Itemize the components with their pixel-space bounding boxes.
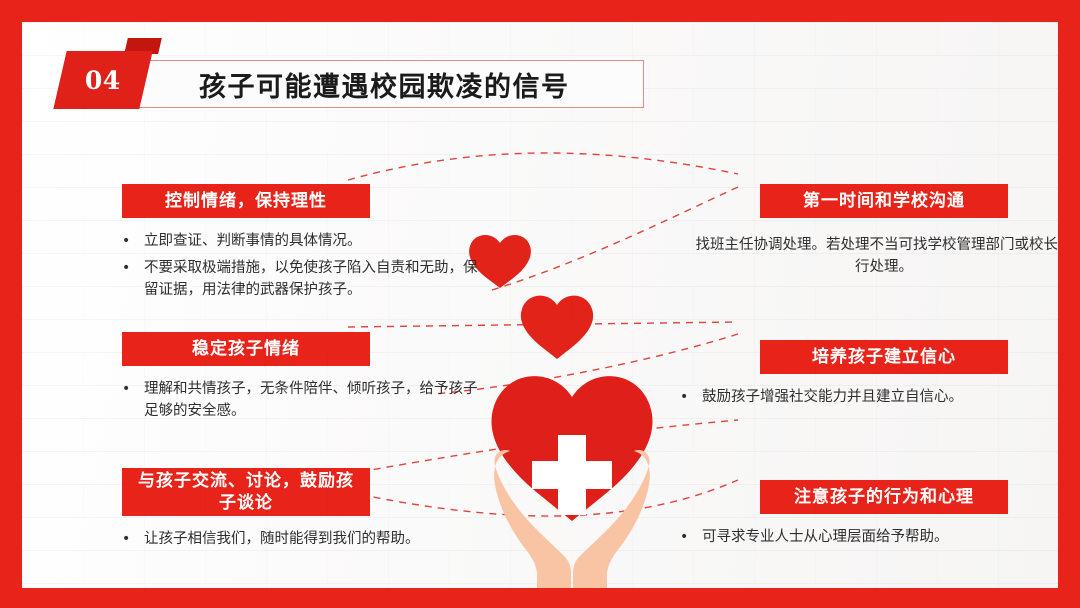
slide-root: 孩子可能遭遇校园欺凌的信号 04 控制情绪，保持理性 • 立即查证、判断事情的具…: [0, 0, 1080, 608]
block-tag-watch-behavior-psychology: 注意孩子的行为和心理: [760, 480, 1008, 514]
bullet-marker: •: [122, 231, 144, 253]
bullet-text: 理解和共情孩子，无条件陪伴、倾听孩子，给予孩子足够的安全感。: [144, 379, 482, 423]
bullet-list: • 可寻求专业人士从心理层面给予帮助。: [680, 527, 1058, 549]
bullet-list: • 让孩子相信我们，随时能得到我们的帮助。: [122, 529, 492, 551]
title-box: 孩子可能遭遇校园欺凌的信号: [132, 60, 644, 108]
block-tag-control-emotion: 控制情绪，保持理性: [122, 184, 370, 218]
section-number: 04: [85, 66, 121, 95]
bullet-list: • 鼓励孩子增强社交能力并且建立自信心。: [680, 387, 1058, 409]
block-watch-behavior-psychology[interactable]: 注意孩子的行为和心理 • 可寻求专业人士从心理层面给予帮助。: [760, 480, 1008, 514]
block-tag-communicate-with-child: 与孩子交流、讨论，鼓励孩子谈论: [122, 468, 370, 516]
block-communicate-with-child[interactable]: 与孩子交流、讨论，鼓励孩子谈论 • 让孩子相信我们，随时能得到我们的帮助。: [122, 468, 370, 516]
block-body-watch-behavior-psychology: • 可寻求专业人士从心理层面给予帮助。: [680, 522, 1058, 549]
bullet-text: 让孩子相信我们，随时能得到我们的帮助。: [144, 529, 492, 551]
list-item: • 鼓励孩子增强社交能力并且建立自信心。: [680, 387, 1058, 409]
list-item: • 让孩子相信我们，随时能得到我们的帮助。: [122, 529, 492, 551]
bullet-list: • 立即查证、判断事情的具体情况。 • 不要采取极端措施，以免使孩子陷入自责和无…: [122, 231, 482, 301]
bullet-text: 不要采取极端措施，以免使孩子陷入自责和无助，保留证据，用法律的武器保护孩子。: [144, 258, 482, 302]
bullet-text: 立即查证、判断事情的具体情况。: [144, 231, 482, 253]
block-body-communicate-with-child: • 让孩子相信我们，随时能得到我们的帮助。: [122, 524, 492, 551]
bullet-marker: •: [680, 527, 702, 549]
body-text: 找班主任协调处理。若处理不当可找学校管理部门或校长进行处理。: [690, 234, 1058, 279]
bullet-marker: •: [122, 258, 144, 302]
bullet-list: • 理解和共情孩子，无条件陪伴、倾听孩子，给予孩子足够的安全感。: [122, 379, 482, 423]
left-wrist-icon: [537, 573, 571, 588]
block-control-emotion[interactable]: 控制情绪，保持理性 • 立即查证、判断事情的具体情况。 • 不要采取极端措施，以…: [122, 184, 370, 218]
right-wrist-icon: [573, 573, 607, 588]
list-item: • 可寻求专业人士从心理层面给予帮助。: [680, 527, 1058, 549]
list-item: • 理解和共情孩子，无条件陪伴、倾听孩子，给予孩子足够的安全感。: [122, 379, 482, 423]
list-item: • 不要采取极端措施，以免使孩子陷入自责和无助，保留证据，用法律的武器保护孩子。: [122, 258, 482, 302]
bullet-marker: •: [122, 379, 144, 423]
bullet-text: 可寻求专业人士从心理层面给予帮助。: [702, 527, 1058, 549]
block-stabilize-child-emotion[interactable]: 稳定孩子情绪 • 理解和共情孩子，无条件陪伴、倾听孩子，给予孩子足够的安全感。: [122, 332, 370, 366]
block-build-confidence[interactable]: 培养孩子建立信心 • 鼓励孩子增强社交能力并且建立自信心。: [760, 340, 1008, 374]
bullet-text: 鼓励孩子增强社交能力并且建立自信心。: [702, 387, 1058, 409]
slide-canvas: 孩子可能遭遇校园欺凌的信号 04 控制情绪，保持理性 • 立即查证、判断事情的具…: [22, 22, 1058, 588]
block-tag-stabilize-child-emotion: 稳定孩子情绪: [122, 332, 370, 366]
block-body-build-confidence: • 鼓励孩子增强社交能力并且建立自信心。: [680, 382, 1058, 409]
bullet-marker: •: [122, 529, 144, 551]
page-title: 孩子可能遭遇校园欺凌的信号: [199, 65, 570, 104]
list-item: • 立即查证、判断事情的具体情况。: [122, 231, 482, 253]
block-body-control-emotion: • 立即查证、判断事情的具体情况。 • 不要采取极端措施，以免使孩子陷入自责和无…: [122, 226, 482, 301]
block-contact-school-first[interactable]: 第一时间和学校沟通 找班主任协调处理。若处理不当可找学校管理部门或校长进行处理。: [760, 184, 1008, 218]
section-number-ribbon: 04: [53, 51, 152, 109]
connector-1: [348, 153, 738, 180]
block-body-stabilize-child-emotion: • 理解和共情孩子，无条件陪伴、倾听孩子，给予孩子足够的安全感。: [122, 374, 482, 423]
bullet-marker: •: [680, 387, 702, 409]
block-tag-contact-school-first: 第一时间和学校沟通: [760, 184, 1008, 218]
small-heart-middle-icon: [521, 296, 593, 359]
block-body-contact-school-first: 找班主任协调处理。若处理不当可找学校管理部门或校长进行处理。: [690, 226, 1058, 279]
block-tag-build-confidence: 培养孩子建立信心: [760, 340, 1008, 374]
